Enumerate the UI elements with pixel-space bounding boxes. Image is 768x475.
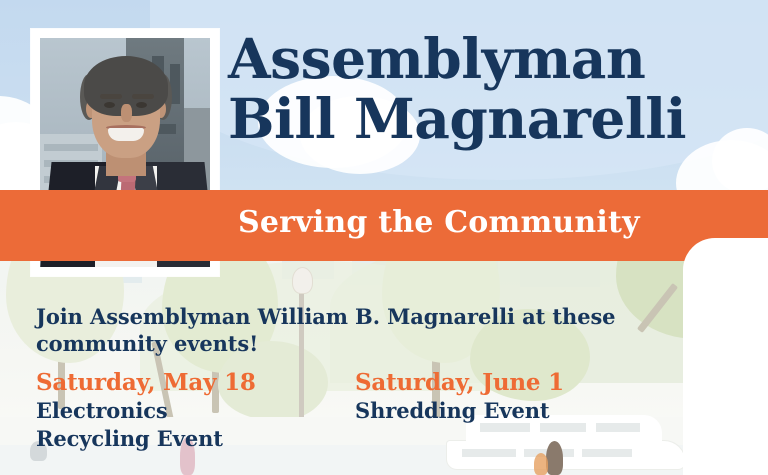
poster-canvas: Assemblyman Bill Magnarelli Serving the … <box>0 0 768 475</box>
event-date: Saturday, May 18 <box>36 370 256 396</box>
title-line-2: Bill Magnarelli <box>228 92 764 146</box>
tagline-text: Serving the Community <box>238 205 640 240</box>
event-date: Saturday, June 1 <box>355 370 564 396</box>
event-name-line-1: Shredding Event <box>355 398 564 423</box>
lamp-head-icon <box>292 267 313 294</box>
photo-smile <box>108 128 144 141</box>
boat-window-icon <box>540 423 586 432</box>
list-item: Saturday, May 18 Electronics Recycling E… <box>36 370 256 451</box>
page-title: Assemblyman Bill Magnarelli <box>228 32 764 146</box>
list-item: Saturday, June 1 Shredding Event <box>355 370 564 424</box>
photo-eye <box>104 102 115 108</box>
boat-window-icon <box>462 449 516 457</box>
photo-eyebrow <box>100 94 122 99</box>
boat-window-icon <box>582 449 632 457</box>
right-white-panel <box>683 238 768 475</box>
person-icon <box>546 441 563 475</box>
title-line-1: Assemblyman <box>228 32 764 86</box>
photo-nose <box>121 104 132 122</box>
event-name-line-2: Recycling Event <box>36 426 256 451</box>
photo-eyebrow <box>132 94 154 99</box>
boat-window-icon <box>480 423 530 432</box>
boat-window-icon <box>596 423 640 432</box>
person-icon <box>534 453 548 475</box>
intro-text: Join Assemblyman William B. Magnarelli a… <box>36 304 636 358</box>
event-name-line-1: Electronics <box>36 398 256 423</box>
photo-eye <box>136 102 147 108</box>
